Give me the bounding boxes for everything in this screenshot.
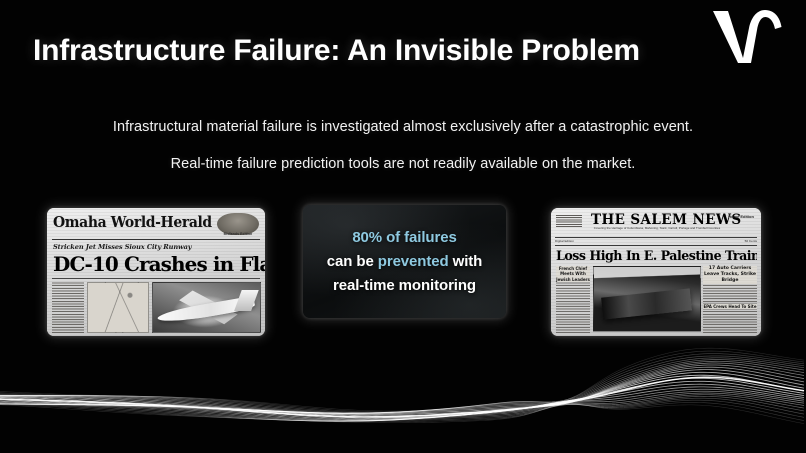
callout-line2-prefix: can be <box>327 253 378 270</box>
salem-headline: Loss High In E. Palestine Train Derailme… <box>556 248 757 263</box>
newspaper-card-the-salem-news: THE SALEM NEWS Covering the Heritage of … <box>551 208 761 336</box>
presentation-slide: Infrastructure Failure: An Invisible Pro… <box>0 0 806 453</box>
salem-edition-label: Home Edition <box>725 214 757 219</box>
salem-deck-right: 17 Auto Carriers Leave Tracks, Strike Br… <box>703 266 757 284</box>
callout-line-2: can be prevented with <box>327 253 482 270</box>
omaha-edition-label: Midlands Edition <box>217 232 259 236</box>
callout-text-block: 80% of failures can be prevented with re… <box>303 205 506 318</box>
omaha-masthead: Omaha World-Herald <box>53 213 202 231</box>
omaha-text-column <box>52 282 84 333</box>
salem-subtitle: Covering the Heritage of Columbiana, Mah… <box>591 227 723 231</box>
callout-line-1: 80% of failures <box>352 229 456 246</box>
body-line-1: Infrastructural material failure is inve… <box>0 119 806 135</box>
cards-row: Omaha World-Herald Midlands Edition Stri… <box>0 205 806 340</box>
omaha-airplane-photo <box>152 282 261 333</box>
body-line-2: Real-time failure prediction tools are n… <box>0 156 806 172</box>
train-wreckage <box>602 288 693 319</box>
airplane-tail <box>234 290 259 311</box>
salem-dateline-left: Digital Edition <box>555 239 574 243</box>
omaha-headline: DC-10 Crashes in Flames <box>53 252 265 276</box>
callout-line-3: real-time monitoring <box>333 277 476 294</box>
newspaper-card-omaha-world-herald: Omaha World-Herald Midlands Edition Stri… <box>47 208 265 336</box>
callout-line2-suffix: with <box>449 253 483 270</box>
salem-dateline: Digital Edition 50 Cents <box>555 239 757 243</box>
omaha-map-graphic <box>87 282 149 333</box>
callout-statistic: 80% of failures <box>352 229 456 246</box>
divider-rule <box>52 239 260 240</box>
divider-rule <box>52 278 260 279</box>
page-title: Infrastructure Failure: An Invisible Pro… <box>33 34 640 68</box>
waveform-v-logo-icon <box>710 6 784 72</box>
callout-line2-accent: prevented <box>378 253 449 270</box>
audio-waveform-graphic <box>0 343 806 453</box>
salem-dateline-right: 50 Cents <box>745 239 757 243</box>
omaha-kicker: Stricken Jet Misses Sioux City Runway <box>53 243 192 251</box>
statistic-callout-card: 80% of failures can be prevented with re… <box>303 205 506 318</box>
divider-rule <box>555 237 757 238</box>
salem-derailment-photo <box>593 266 701 332</box>
salem-deck-left: French Chief Meets With Jewish Leaders <box>556 266 590 282</box>
salem-deck-right-secondary: EPA Crews Head To Site <box>703 304 757 309</box>
divider-rule <box>555 245 757 246</box>
salem-flag-icon <box>556 214 582 227</box>
